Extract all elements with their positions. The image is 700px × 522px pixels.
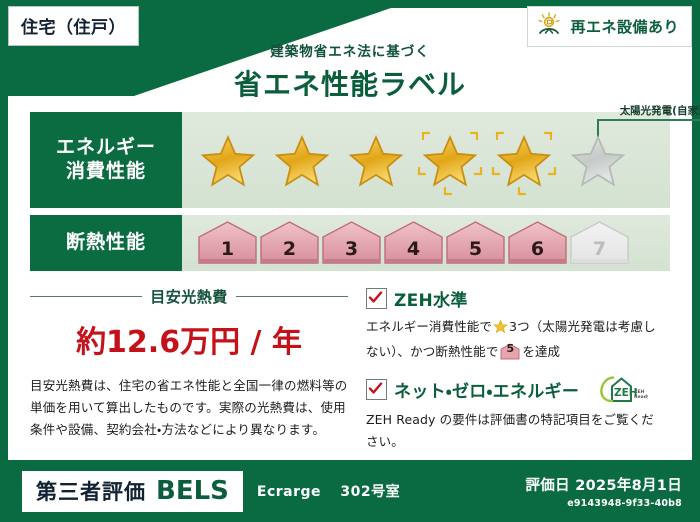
insulation-house-on: 4 [382,220,445,266]
room-number: 302号室 [340,484,400,500]
zeh-netzero-checkbox[interactable] [366,379,387,400]
star-filled [488,124,560,196]
energy-consumption-rating-panel: 太陽光発電(自家消費)分 [182,112,670,208]
details-section: 目安光熱費 約12.6万円 / 年 目安光熱費は、住宅の省エネ性能と全国一律の燃… [30,286,670,454]
renewable-equipment-badge: 再エネ設備あり [527,6,692,47]
rule-right [236,296,348,297]
insulation-rating-panel: 1234567 [182,215,670,271]
insulation-tag-label: 断熱性能 [66,231,146,255]
zeh-standard-checkbox[interactable] [366,288,387,309]
certificate-uid: e9143948-9f33-40b8 [526,498,683,509]
energy-consumption-row: エネルギー 消費性能 太陽光発電(自家消費)分 [30,112,670,208]
insulation-level-number: 1 [221,238,234,266]
insulation-house-on: 3 [320,220,383,266]
insulation-level-number: 5 [469,238,482,266]
utility-cost-heading: 目安光熱費 [30,286,348,307]
insulation-row: 断熱性能 1234567 [30,215,670,271]
star-filled [414,124,486,196]
title-main: 省エネ性能ラベル [0,63,700,103]
star-empty [562,124,634,196]
insulation-house-on: 5 [444,220,507,266]
insulation-level-number: 6 [531,238,544,266]
star-filled [340,124,412,196]
zeh-netzero-description: ZEH Ready の要件は評価書の特記項目をご覧ください。 [366,409,658,452]
rule-left [30,296,142,297]
zeh-standard-desc-star: 3つ（太陽光発電 [509,319,605,334]
label-title-block: 建築物省エネ法に基づく 省エネ性能ラベル [0,40,700,103]
solar-sun-icon [536,12,562,40]
insulation-level-number: 3 [345,238,358,266]
energy-consumption-tag: エネルギー 消費性能 [30,112,182,208]
utility-cost-value: 約12.6万円 / 年 [30,317,348,361]
zeh-column: ZEH水準 エネルギー消費性能で3つ（太陽光発電は考慮しない）、かつ断熱性能で5… [360,286,658,454]
inline-house-level: 5 [500,343,520,360]
building-type-label: 住宅（住戸） [21,18,126,38]
evaluation-info: 評価日 2025年8月1日 e9143948-9f33-40b8 [526,474,683,509]
evaluation-date-value: 2025年8月1日 [575,478,682,494]
evaluation-date-label: 評価日 [526,478,570,494]
zeh-netzero-title-row: ネット・ゼロ・エネルギー ZEH ZEH Ready [366,374,658,404]
insulation-levels: 1234567 [182,215,670,271]
zeh-standard-desc-part3: を達成 [522,344,560,359]
bels-certification-badge: 第三者評価 BELS [22,471,243,512]
bels-label: BELS [156,476,229,506]
utility-cost-note: 目安光熱費は、住宅の省エネ性能と全国一律の燃料等の単価を用いて算出したものです。… [30,375,348,441]
insulation-house-on: 2 [258,220,321,266]
zeh-netzero-block: ネット・ゼロ・エネルギー ZEH ZEH Ready ZEH Ready の要件… [366,374,658,452]
zeh-standard-title-row: ZEH水準 [366,286,658,311]
utility-cost-heading-label: 目安光熱費 [150,286,228,307]
insulation-tag: 断熱性能 [30,215,182,271]
third-party-eval-label: 第三者評価 [36,476,146,506]
zeh-standard-description: エネルギー消費性能で3つ（太陽光発電は考慮しない）、かつ断熱性能で5を達成 [366,316,658,362]
zeh-standard-desc-part1: エネルギー消費性能で [366,319,492,334]
star-filled [266,124,338,196]
inline-star-icon [493,319,508,341]
evaluation-date-row: 評価日 2025年8月1日 [526,474,683,495]
insulation-house-on: 1 [196,220,259,266]
building-name: Ecrarge [257,484,321,500]
energy-consumption-tag-line2: 消費性能 [66,160,146,184]
zeh-netzero-title: ネット・ゼロ・エネルギー [394,377,579,402]
insulation-level-number: 7 [593,238,606,266]
insulation-house-on: 6 [506,220,569,266]
zeh-standard-title: ZEH水準 [394,286,468,311]
performance-section: エネルギー 消費性能 太陽光発電(自家消費)分 断熱性能 [30,112,670,278]
energy-consumption-tag-line1: エネルギー [56,136,156,160]
insulation-house-off: 7 [568,220,631,266]
renewable-equipment-label: 再エネ設備あり [570,16,679,37]
insulation-level-number: 2 [283,238,296,266]
building-type-badge: 住宅（住戸） [8,6,139,46]
zeh-standard-block: ZEH水準 エネルギー消費性能で3つ（太陽光発電は考慮しない）、かつ断熱性能で5… [366,286,658,362]
insulation-level-number: 4 [407,238,420,266]
star-filled [192,124,264,196]
utility-cost-column: 目安光熱費 約12.6万円 / 年 目安光熱費は、住宅の省エネ性能と全国一律の燃… [30,286,360,454]
label-footer: 第三者評価 BELS Ecrarge 302号室 評価日 2025年8月1日 e… [0,460,700,522]
building-info: Ecrarge 302号室 [257,481,400,501]
star-rating [182,112,670,208]
energy-performance-label: 住宅（住戸） 再エネ設備あり 建築物省エネ法に基づく 省エネ性能ラベル [0,0,700,522]
svg-text:Ready: Ready [634,394,648,400]
zeh-ready-logo-icon: ZEH ZEH Ready [590,374,648,404]
inline-house-badge: 5 [500,343,520,360]
